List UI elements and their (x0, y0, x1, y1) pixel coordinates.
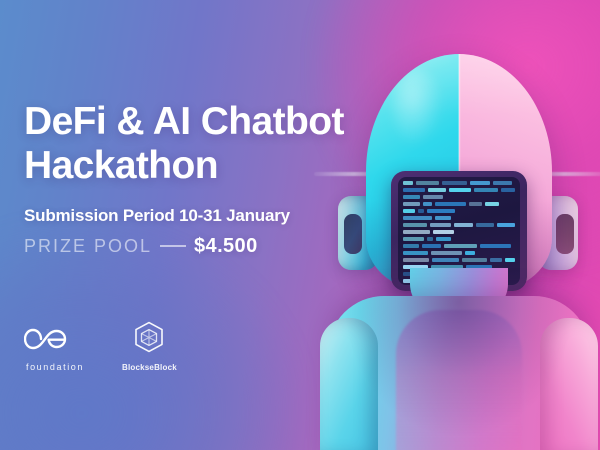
screen-code-token (403, 230, 430, 234)
screen-code-line (403, 251, 515, 255)
headline-line-1: DeFi & AI Chatbot (24, 100, 344, 143)
screen-code-token (430, 223, 452, 227)
screen-code-line (403, 202, 515, 206)
screen-code-token (427, 209, 455, 213)
screen-code-token (403, 223, 427, 227)
screen-code-line (403, 244, 515, 248)
screen-code-token (416, 181, 439, 185)
screen-code-token (470, 181, 490, 185)
screen-code-token (462, 258, 487, 262)
screen-code-token (449, 188, 471, 192)
screen-code-token (403, 188, 425, 192)
screen-code-token (505, 258, 515, 262)
screen-code-token (403, 202, 420, 206)
screen-code-token (501, 188, 515, 192)
screen-code-line (403, 258, 515, 262)
screen-code-token (403, 237, 424, 241)
robot-torso-shading (328, 296, 590, 450)
screen-code-token (403, 181, 413, 185)
screen-code-token (469, 202, 482, 206)
screen-code-token (444, 244, 477, 248)
screen-code-token (403, 195, 420, 199)
submission-period-text: Submission Period 10-31 January (24, 206, 364, 226)
screen-code-token (485, 202, 499, 206)
screen-code-token (423, 195, 443, 199)
prize-pool-amount: $4.500 (194, 235, 258, 258)
ae-infinity-icon (24, 326, 86, 357)
screen-code-token (433, 230, 454, 234)
cube-icon (134, 321, 164, 358)
screen-code-token (423, 202, 432, 206)
screen-code-line (403, 230, 515, 234)
screen-code-token (418, 209, 424, 213)
screen-code-token (435, 216, 451, 220)
screen-code-line (403, 209, 515, 213)
banner-copy: DeFi & AI Chatbot Hackathon Submission P… (24, 100, 364, 258)
robot-head-highlight (392, 70, 444, 148)
screen-code-token (435, 202, 466, 206)
screen-code-line (403, 188, 515, 192)
screen-code-line (403, 195, 515, 199)
hackathon-promo-banner: DeFi & AI Chatbot Hackathon Submission P… (0, 0, 600, 450)
robot-ear-right-inner (556, 214, 574, 254)
screen-code-token (403, 258, 429, 262)
screen-code-line (403, 181, 515, 185)
screen-code-token (403, 244, 419, 248)
screen-code-token (431, 251, 462, 255)
blockseblock-label: BlockseBlock (122, 363, 177, 372)
page-title: DeFi & AI Chatbot Hackathon (24, 100, 364, 189)
screen-code-token (480, 244, 511, 248)
screen-code-token (432, 258, 459, 262)
blockseblock-logo[interactable]: BlockseBlock (122, 321, 177, 372)
screen-code-token (428, 188, 446, 192)
prize-pool-label: PRIZE POOL (24, 236, 152, 257)
ae-foundation-label: foundation (26, 362, 84, 372)
screen-code-token (490, 258, 502, 262)
headline-line-2: Hackathon (24, 144, 364, 188)
screen-code-token (436, 237, 451, 241)
screen-code-token (403, 216, 432, 220)
screen-code-token (442, 181, 467, 185)
prize-pool-divider (160, 245, 186, 247)
screen-code-line (403, 216, 515, 220)
screen-code-token (427, 237, 433, 241)
screen-code-token (465, 251, 475, 255)
screen-code-token (497, 223, 515, 227)
screen-code-token (403, 209, 415, 213)
screen-code-line (403, 223, 515, 227)
screen-code-token (493, 181, 512, 185)
prize-pool-row: PRIZE POOL $4.500 (24, 235, 364, 258)
screen-code-line (403, 237, 515, 241)
ae-foundation-logo[interactable]: foundation (24, 326, 86, 372)
screen-code-token (476, 223, 495, 227)
screen-code-token (474, 188, 498, 192)
sponsor-logos: foundation BlockseBlock (24, 321, 177, 372)
screen-code-token (403, 251, 428, 255)
screen-code-token (454, 223, 473, 227)
screen-code-token (422, 244, 441, 248)
